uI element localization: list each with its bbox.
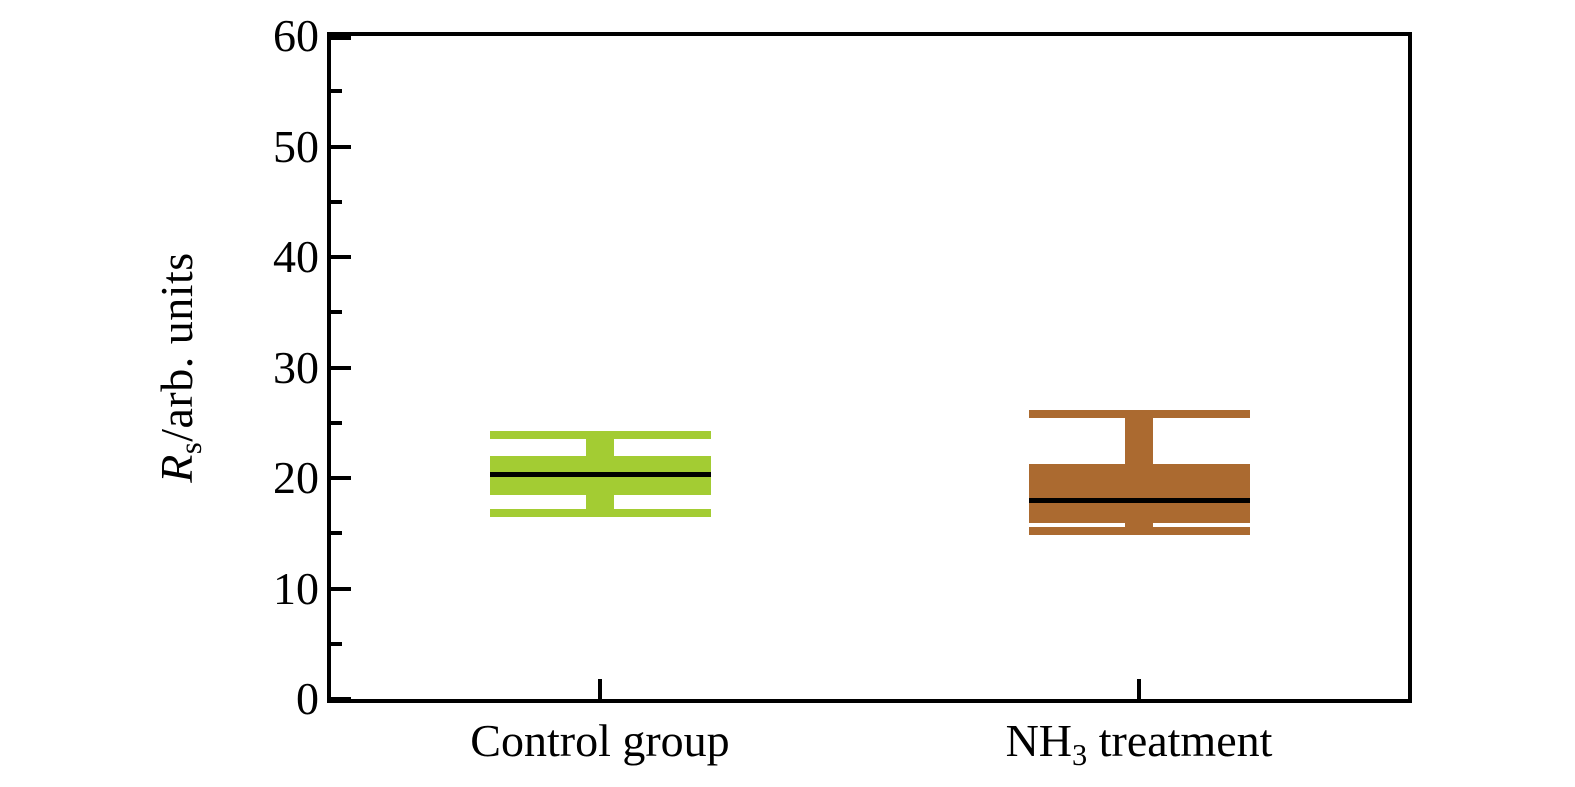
whisker-cap-lower-nh3	[1029, 527, 1250, 535]
y-axis-label-units: /arb. units	[151, 252, 202, 441]
y-tick-label-0: 0	[199, 676, 319, 722]
x-tick-label-control: Control group	[340, 712, 860, 770]
y-tick-label-40: 40	[199, 234, 319, 280]
x-tick-label-nh3: NH3 treatment	[879, 712, 1399, 775]
median-line-nh3	[1029, 498, 1250, 503]
whisker-cap-upper-nh3	[1029, 410, 1250, 418]
x-tick-label-nh3-subscript: 3	[1072, 738, 1087, 772]
box-nh3[interactable]	[1029, 464, 1250, 523]
y-tick-label-50: 50	[199, 124, 319, 170]
boxplot-nh3-treatment[interactable]	[331, 36, 1408, 699]
x-tick-label-nh3-prefix: NH	[1006, 715, 1072, 766]
boxplot-figure: Rs/arb. units 0 10 20 30 40 50 60 Contro…	[0, 0, 1575, 787]
y-axis-label-subscript: s	[175, 442, 209, 454]
whisker-line-upper-nh3	[1125, 414, 1153, 464]
y-tick-label-20: 20	[199, 455, 319, 501]
y-axis-label-symbol: R	[151, 454, 202, 483]
y-tick-label-60: 60	[199, 13, 319, 59]
x-tick-label-nh3-rest: treatment	[1087, 715, 1272, 766]
y-tick-label-10: 10	[199, 566, 319, 612]
plot-area	[327, 32, 1412, 703]
y-tick-label-30: 30	[199, 345, 319, 391]
